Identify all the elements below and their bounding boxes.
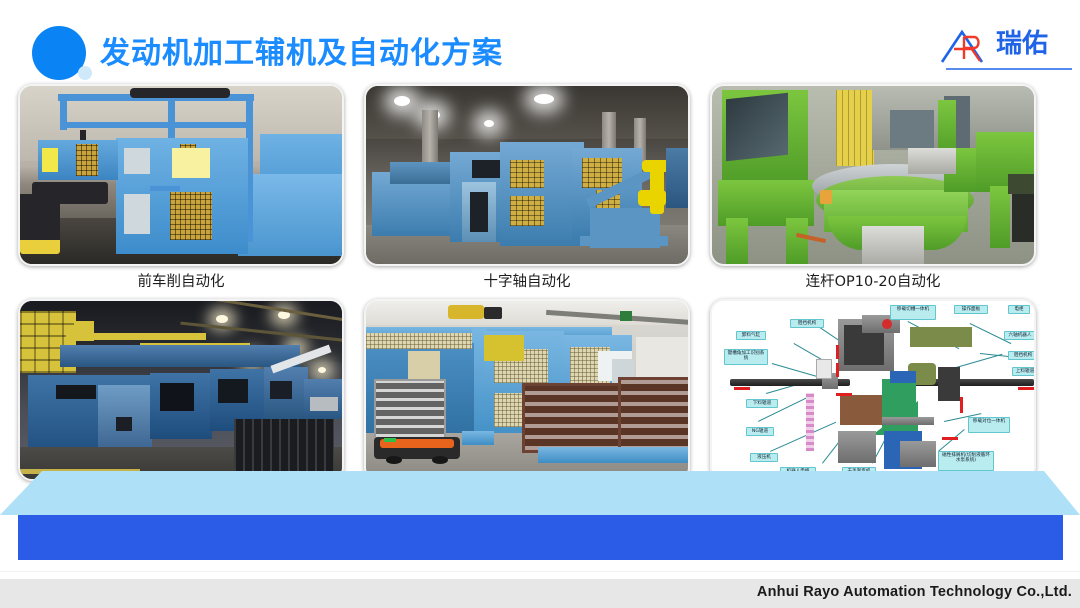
photo-5-content [366,301,688,479]
footer-divider [0,571,1080,572]
photo-1-content [20,86,342,264]
small-circle-icon [78,66,92,80]
gallery-photo-4[interactable] [18,299,344,481]
rayo-a-r-mark-icon [940,28,996,68]
diagram-label: 移载切槽一体机 [890,305,936,320]
diagram-label: 下料辊道 [746,399,778,408]
diagram-label: NG辊道 [746,427,774,436]
diagram-label: 卸料气缸 [736,331,766,340]
page-title: 发动机加工辅机及自动化方案 [100,28,503,72]
diagram-label: 操作面板 [954,305,988,314]
gallery-photo-5[interactable] [364,299,690,481]
diagram-label: 六轴机器人 [1004,331,1034,340]
gallery-photo-6[interactable]: 移载切槽一体机 操作面板 电柜 阻挡机构 六轴机器人 卸料气缸 阻挡机构 键槽角… [710,299,1036,481]
blue-band [18,515,1063,560]
logo-underline-icon [944,66,1074,72]
light-blue-band [0,471,1080,515]
photo-3-content [712,86,1034,264]
logo-text: 瑞佑 [996,30,1048,58]
diagram-label: 电柜 [1008,305,1030,314]
company-logo: 瑞佑 [940,28,1070,72]
slide-canvas: 发动机加工辅机及自动化方案 瑞佑 [0,0,1080,607]
gallery-photo-2[interactable] [364,84,690,266]
diagram-label: 移载对位一体机 [968,417,1010,433]
diagram-label: 键槽角加工识别系统 [724,349,768,365]
photo-2-content [366,86,688,264]
diagram-label: 阻挡机构 [790,319,824,328]
gallery-photo-1[interactable] [18,84,344,266]
photo-4-content [20,301,342,479]
gallery-caption-2: 十字轴自动化 [364,270,690,291]
diagram-label: 磁性排屑机(切削液循环水泵系统) [938,451,994,471]
photo-6-content: 移载切槽一体机 操作面板 电柜 阻挡机构 六轴机器人 卸料气缸 阻挡机构 键槽角… [712,301,1034,479]
diagram-label: 液压机 [750,453,778,462]
footer-company-name: Anhui Rayo Automation Technology Co.,Ltd… [757,584,1072,600]
gallery-photo-3[interactable] [710,84,1036,266]
slide-header: 发动机加工辅机及自动化方案 瑞佑 [0,0,1080,80]
diagram-label: 阻挡机构 [1008,351,1034,360]
gallery-caption-1: 前车削自动化 [18,270,344,291]
diagram-label: 上料辊道 [1012,367,1034,376]
gallery-caption-3: 连杆OP10-20自动化 [710,270,1036,291]
